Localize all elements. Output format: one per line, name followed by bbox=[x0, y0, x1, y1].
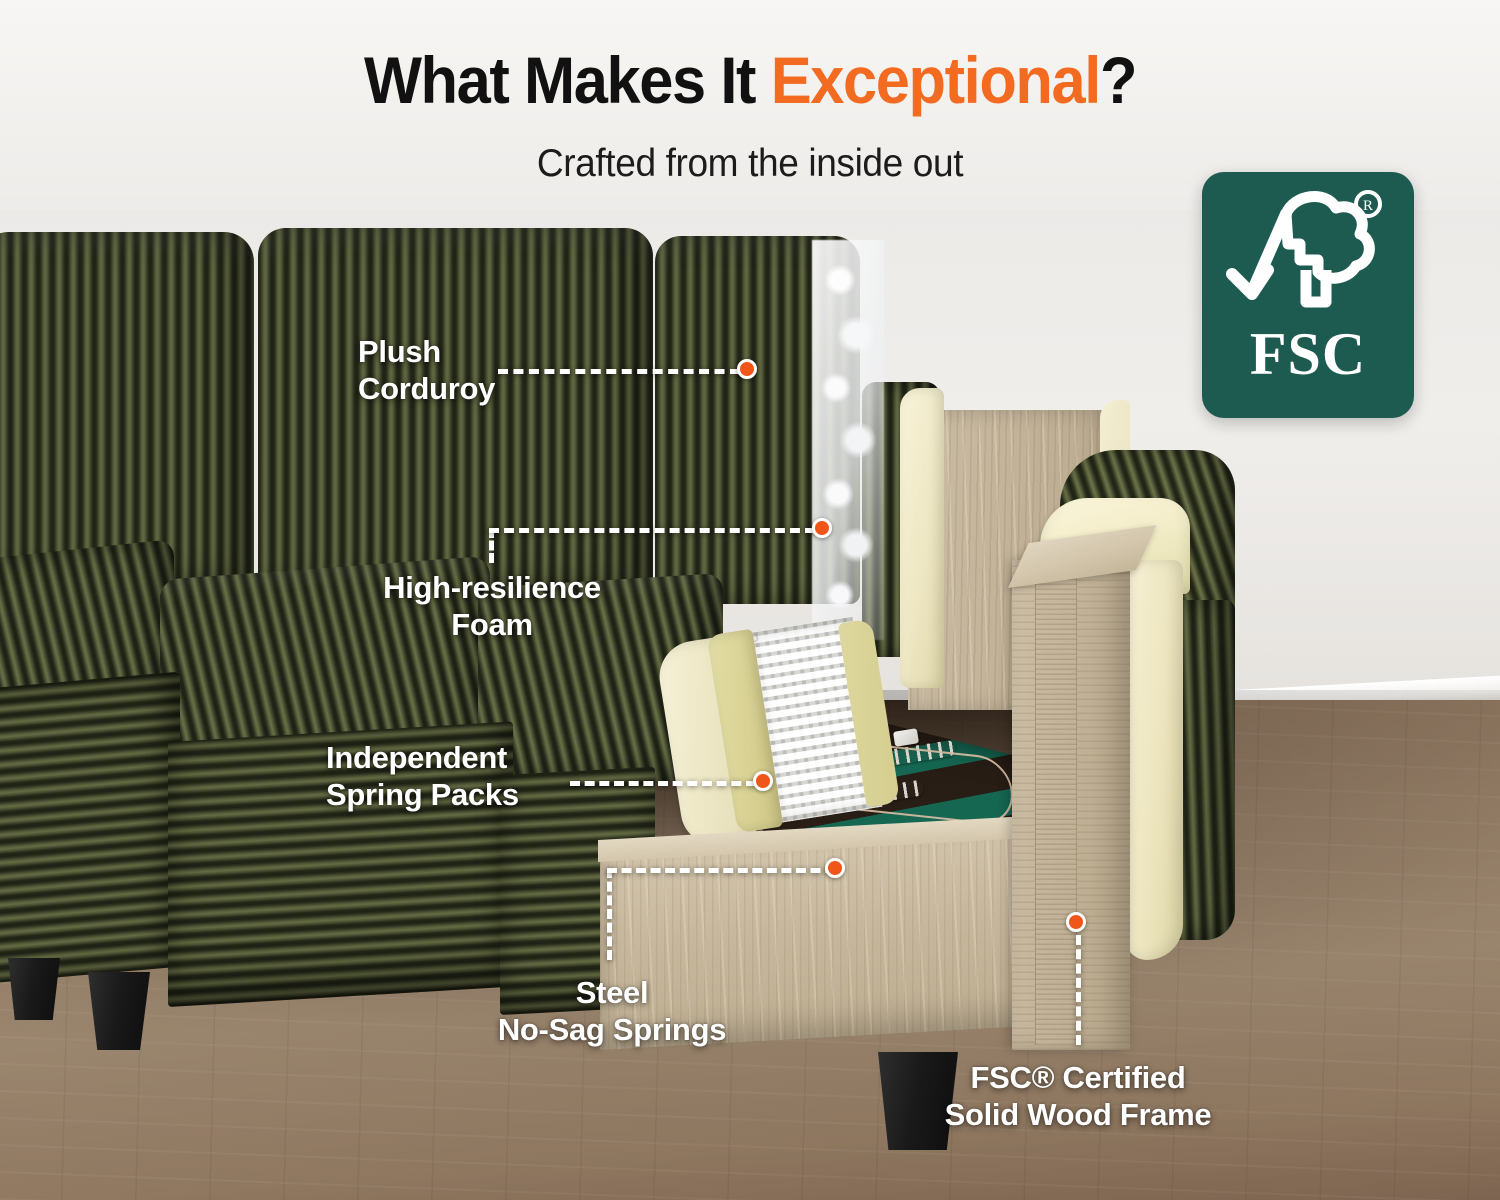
callout-dot-independent-spring-packs bbox=[753, 771, 773, 791]
page-title: What Makes It Exceptional? bbox=[53, 42, 1448, 118]
infographic-stage: Plush Corduroy High-resilience Foam Inde… bbox=[0, 0, 1500, 1200]
fsc-tree-checkmark-icon: R bbox=[1222, 188, 1394, 328]
callout-label-steel-no-sag-springs: Steel No-Sag Springs bbox=[472, 975, 752, 1048]
svg-text:R: R bbox=[1363, 198, 1373, 214]
callout-dot-fsc-certified-solid-wood-frame bbox=[1066, 912, 1086, 932]
sofa-base-left bbox=[0, 672, 180, 985]
callout-label-high-resilience-foam: High-resilience Foam bbox=[356, 570, 628, 643]
back-foam-layer bbox=[900, 388, 944, 688]
leader-line-steel-horizontal bbox=[607, 868, 835, 873]
wood-frame-side-plank bbox=[1035, 565, 1077, 1045]
callout-dot-steel-no-sag-springs bbox=[825, 858, 845, 878]
back-cushion-middle bbox=[258, 228, 653, 590]
arm-foam-side bbox=[1125, 560, 1183, 960]
back-cushion-left bbox=[0, 232, 254, 582]
fsc-certification-badge: R FSC bbox=[1202, 172, 1414, 418]
leader-line-fsc-frame bbox=[1076, 935, 1081, 1045]
callout-dot-high-resilience-foam bbox=[812, 518, 832, 538]
leader-line-steel-vertical bbox=[607, 868, 612, 960]
sofa-leg bbox=[8, 958, 60, 1020]
title-part1: What Makes It bbox=[364, 43, 771, 117]
leader-line-foam-horizontal bbox=[489, 528, 815, 533]
title-accent-word: Exceptional bbox=[771, 43, 1100, 117]
leader-line-plush-corduroy bbox=[498, 369, 740, 374]
callout-label-plush-corduroy: Plush Corduroy bbox=[358, 334, 495, 407]
callout-label-independent-spring-packs: Independent Spring Packs bbox=[326, 740, 519, 813]
leader-line-foam-vertical bbox=[489, 528, 494, 563]
sofa-leg bbox=[88, 972, 150, 1050]
title-question-mark: ? bbox=[1100, 43, 1136, 117]
callout-dot-plush-corduroy bbox=[737, 359, 757, 379]
callout-label-fsc-certified-solid-wood-frame: FSC® Certified Solid Wood Frame bbox=[920, 1060, 1236, 1133]
fiber-fill-batting bbox=[812, 240, 884, 640]
leader-line-spring-packs bbox=[570, 781, 756, 786]
fsc-badge-label: FSC bbox=[1202, 320, 1414, 389]
